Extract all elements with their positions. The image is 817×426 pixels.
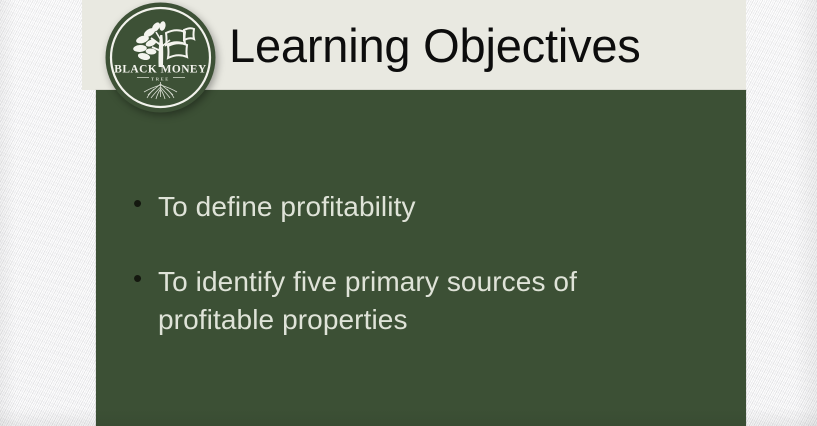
list-item: • To define profitability	[130, 188, 416, 226]
presentation-slide: • To define profitability • To identify …	[0, 0, 746, 426]
list-item: • To identify five primary sources of pr…	[130, 263, 663, 339]
svg-text:TREE: TREE	[151, 77, 170, 82]
slide-body-panel: • To define profitability • To identify …	[96, 90, 746, 426]
bullet-point-icon: •	[130, 263, 158, 293]
svg-text:BLACK MONEY: BLACK MONEY	[114, 64, 207, 76]
page-title: Learning Objectives	[229, 8, 641, 82]
objective-text: To define profitability	[158, 188, 416, 226]
slide-viewer: • To define profitability • To identify …	[0, 0, 817, 426]
objective-text: To identify five primary sources of prof…	[158, 263, 663, 339]
black-money-tree-logo-icon: BLACK MONEY TREE	[104, 1, 217, 114]
bullet-point-icon: •	[130, 188, 158, 218]
